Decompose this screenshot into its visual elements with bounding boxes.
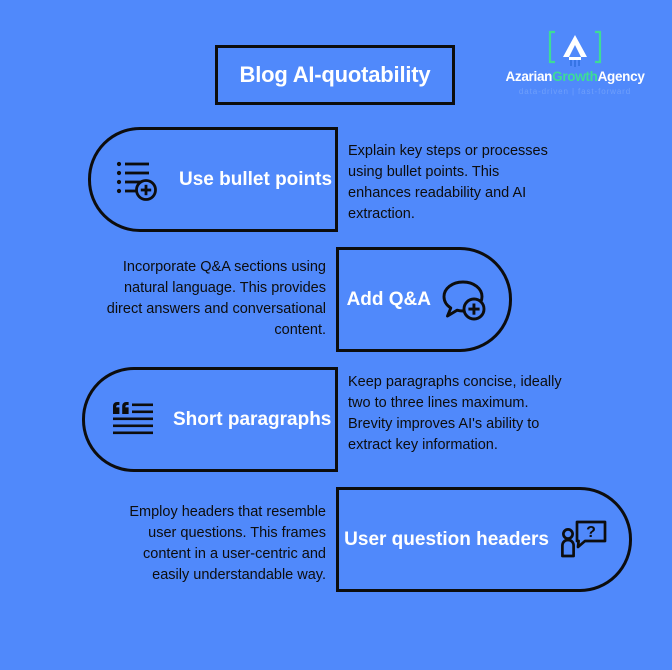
logo-tagline: data-driven | fast-forward (519, 87, 631, 96)
row-add-qa: Incorporate Q&A sections using natural l… (0, 247, 672, 352)
description-use-bullet-points: Explain key steps or processes using bul… (348, 141, 562, 225)
chat-bubble-plus-icon (441, 278, 489, 322)
svg-text:?: ? (586, 524, 596, 541)
brand-logo: AzarianGrowthAgency data-driven | fast-f… (500, 26, 650, 98)
card-label: Use bullet points (179, 169, 332, 191)
bullet-list-plus-icon (115, 158, 163, 202)
logo-word-growth: Growth (552, 69, 597, 84)
description-add-qa: Incorporate Q&A sections using natural l… (104, 257, 326, 341)
person-question-bubble-icon: ? (559, 518, 609, 562)
header: Blog AI-quotability AzarianGrowthAgency … (0, 0, 672, 120)
description-short-paragraphs: Keep paragraphs concise, ideally two to … (348, 372, 562, 456)
card-user-question-headers[interactable]: User question headers ? (336, 487, 632, 592)
card-add-qa[interactable]: Add Q&A (336, 247, 512, 352)
page-title: Blog AI-quotability (240, 62, 431, 88)
description-user-question-headers: Employ headers that resemble user questi… (104, 502, 326, 586)
logo-word-azarian: Azarian (505, 69, 552, 84)
card-label: Add Q&A (347, 289, 431, 311)
card-use-bullet-points[interactable]: Use bullet points (88, 127, 338, 232)
row-short-paragraphs: Short paragraphs Keep paragraphs concise… (0, 367, 672, 472)
row-use-bullet-points: Use bullet points Explain key steps or p… (0, 127, 672, 232)
card-label: Short paragraphs (173, 409, 331, 431)
bracket-a-logo-icon (547, 26, 603, 68)
card-label: User question headers (344, 529, 549, 551)
quote-lines-icon (109, 398, 157, 442)
page-title-box: Blog AI-quotability (215, 45, 455, 105)
logo-word-agency: Agency (598, 69, 645, 84)
row-user-question-headers: Employ headers that resemble user questi… (0, 487, 672, 592)
logo-wordmark: AzarianGrowthAgency (505, 70, 644, 85)
card-short-paragraphs[interactable]: Short paragraphs (82, 367, 338, 472)
